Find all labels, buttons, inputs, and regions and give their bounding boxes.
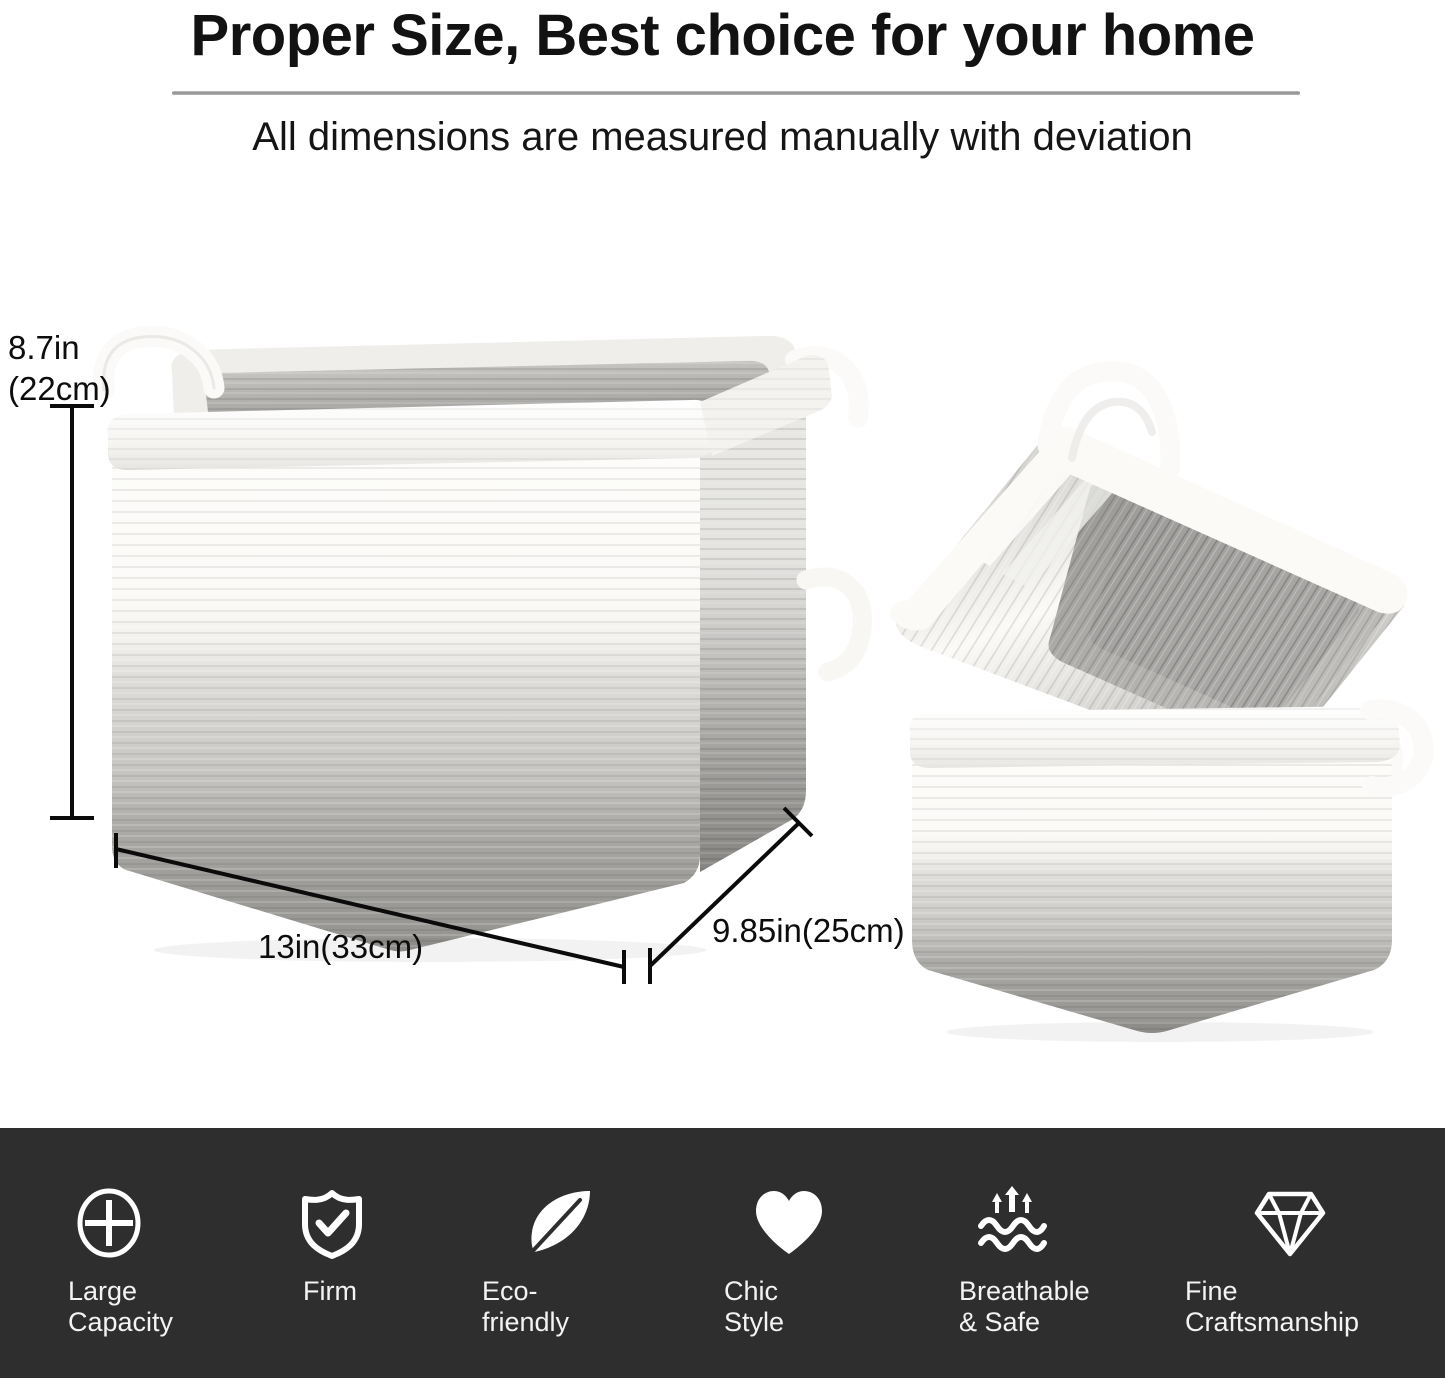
feature-label-chic-style: Chic Style (724, 1276, 784, 1338)
feature-label-large-capacity: Large Capacity (68, 1276, 173, 1338)
feature-bar: Large Capacity Firm Eco-friendly Chic St… (0, 1128, 1445, 1378)
feature-label-breathable-safe: Breathable & Safe (959, 1276, 1090, 1338)
height-dimension-inches: 8.7in (8, 327, 111, 368)
page-title: Proper Size, Best choice for your home (0, 2, 1445, 69)
leaf-icon (522, 1186, 596, 1260)
feature-label-eco-friendly: Eco-friendly (482, 1276, 569, 1338)
heart-icon (752, 1186, 826, 1260)
breathable-waves-icon (975, 1186, 1049, 1260)
plus-circle-icon (72, 1186, 146, 1260)
width-dimension-label: 13in(33cm) (258, 928, 423, 966)
basket-large (104, 336, 863, 962)
height-dimension-label: 8.7in (22cm) (8, 327, 111, 409)
depth-dimension-label: 9.85in(25cm) (712, 912, 905, 950)
basket-pair-right (890, 371, 1424, 1042)
shield-check-icon (295, 1186, 369, 1260)
infographic-page: Proper Size, Best choice for your home A… (0, 0, 1445, 1378)
title-divider (172, 91, 1300, 95)
diamond-icon (1253, 1186, 1327, 1260)
feature-label-firm: Firm (303, 1276, 357, 1307)
height-dimension-cm: (22cm) (8, 368, 111, 409)
basket-front-right (909, 706, 1423, 1042)
feature-label-fine-craftsmanship: Fine Craftsmanship (1185, 1276, 1359, 1338)
